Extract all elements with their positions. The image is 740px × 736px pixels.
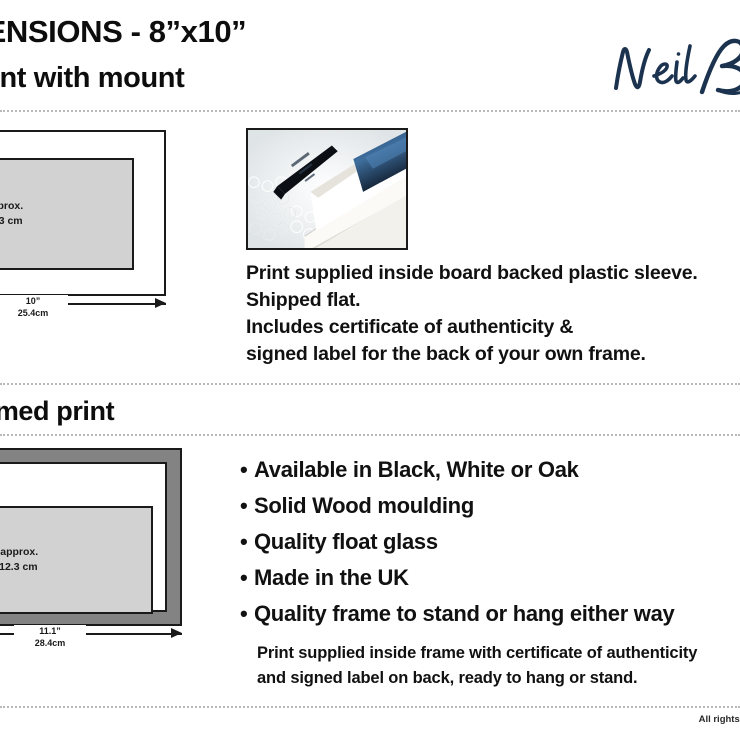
page-title: DIMENSIONS - 8”x10” <box>0 14 246 50</box>
mount-copy-line-1: Print supplied inside board backed plast… <box>246 260 698 287</box>
mounted-print-photo <box>246 128 408 250</box>
framed-section-heading: Framed print <box>0 396 114 427</box>
frame-copy-line-1: Print supplied inside frame with certifi… <box>257 641 697 666</box>
page-header: DIMENSIONS - 8”x10” Print with mount NB <box>0 0 740 110</box>
mount-image-label-line2: 18.5 x 12.3 cm <box>0 214 23 229</box>
frame-mount-board: Image approx. 18.5 x 12.3 cm <box>0 462 167 612</box>
list-item: Made in the UK <box>240 560 674 596</box>
frame-description: Print supplied inside frame with certifi… <box>257 641 697 691</box>
section-divider <box>0 434 740 436</box>
signature-icon <box>602 34 740 104</box>
frame-feature-list: Available in Black, White or Oak Solid W… <box>240 452 674 632</box>
mount-dimension-cm: 25.4cm <box>3 307 63 319</box>
list-item: Quality float glass <box>240 524 674 560</box>
mount-image-label-line1: Image approx. <box>0 199 23 214</box>
frame-dimension-text: 11.1” 28.4cm <box>14 625 86 649</box>
frame-dimension-inches: 11.1” <box>19 625 81 637</box>
mount-copy-line-4: signed label for the back of your own fr… <box>246 341 698 368</box>
frame-copy-line-2: and signed label on back, ready to hang … <box>257 666 697 691</box>
frame-image-label: Image approx. 18.5 x 12.3 cm <box>0 545 38 575</box>
arrow-right-icon <box>171 628 182 638</box>
brand-logo: NB <box>602 34 740 104</box>
arrow-right-icon <box>155 298 166 308</box>
list-item: Quality frame to stand or hang either wa… <box>240 596 674 632</box>
mount-image-label: Image approx. 18.5 x 12.3 cm <box>0 199 23 229</box>
mount-dimension-inches: 10” <box>3 295 63 307</box>
footer-note: All rights reserved <box>699 714 740 725</box>
mount-copy-line-3: Includes certificate of authenticity & <box>246 314 698 341</box>
frame-image-label-line2: 18.5 x 12.3 cm <box>0 560 38 575</box>
mount-dimension-text: 10” 25.4cm <box>0 295 68 319</box>
mount-image-window: Image approx. 18.5 x 12.3 cm <box>0 158 134 270</box>
frame-moulding: Image approx. 18.5 x 12.3 cm <box>0 448 182 626</box>
list-item: Available in Black, White or Oak <box>240 452 674 488</box>
mount-description: Print supplied inside board backed plast… <box>246 260 698 368</box>
mount-copy-line-2: Shipped flat. <box>246 287 698 314</box>
page-subtitle: Print with mount <box>0 62 184 95</box>
photo-illustration-icon <box>248 130 406 248</box>
list-item: Solid Wood moulding <box>240 488 674 524</box>
footer-divider <box>0 706 740 708</box>
frame-dimension-cm: 28.4cm <box>19 637 81 649</box>
frame-image-label-line1: Image approx. <box>0 545 38 560</box>
frame-image-window: Image approx. 18.5 x 12.3 cm <box>0 506 153 614</box>
section-divider <box>0 110 740 112</box>
mount-diagram: Image approx. 18.5 x 12.3 cm <box>0 130 166 296</box>
frame-diagram: Image approx. 18.5 x 12.3 cm <box>0 448 182 626</box>
section-divider <box>0 383 740 385</box>
mount-board: Image approx. 18.5 x 12.3 cm <box>0 130 166 296</box>
